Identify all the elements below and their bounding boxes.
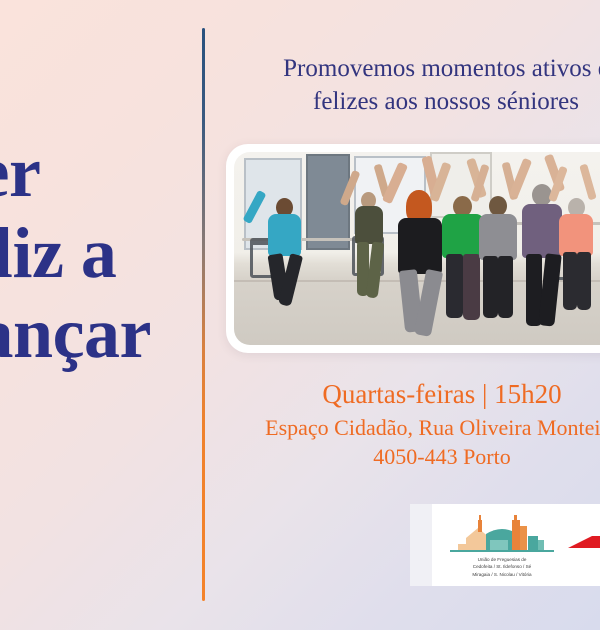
- schedule-zip: 4050-443 Porto: [232, 443, 600, 472]
- vertical-divider: [202, 28, 205, 601]
- photo-card: [226, 144, 600, 353]
- union-logo-caption: União de Freguesias de Cedofeita / St. I…: [442, 556, 562, 577]
- logo-strip-tint: [410, 504, 432, 586]
- promo-line-2: felizes aos nossos séniores: [236, 85, 600, 118]
- logo-strip: União de Freguesias de Cedofeita / St. I…: [410, 504, 600, 586]
- poster-canvas: Ser feliz a dançar Promovemos momentos a…: [0, 0, 600, 630]
- schedule-block: Quartas-feiras | 15h20 Espaço Cidadão, R…: [232, 378, 600, 471]
- promo-text: Promovemos momentos ativos e felizes aos…: [236, 52, 600, 118]
- promo-line-1: Promovemos momentos ativos e: [236, 52, 600, 85]
- page-title: Ser feliz a dançar: [0, 132, 200, 374]
- title-line-2: feliz a: [0, 213, 200, 294]
- title-line-3: dançar: [0, 293, 200, 374]
- red-partner-mark: [568, 534, 600, 550]
- schedule-where: Espaço Cidadão, Rua Oliveira Monteiro: [232, 414, 600, 443]
- union-logo: União de Freguesias de Cedofeita / St. I…: [442, 512, 562, 577]
- title-line-1: Ser: [0, 132, 200, 213]
- schedule-when: Quartas-feiras | 15h20: [232, 378, 600, 411]
- dance-class-photo: [234, 152, 600, 345]
- porto-skyline-mark: [450, 512, 554, 554]
